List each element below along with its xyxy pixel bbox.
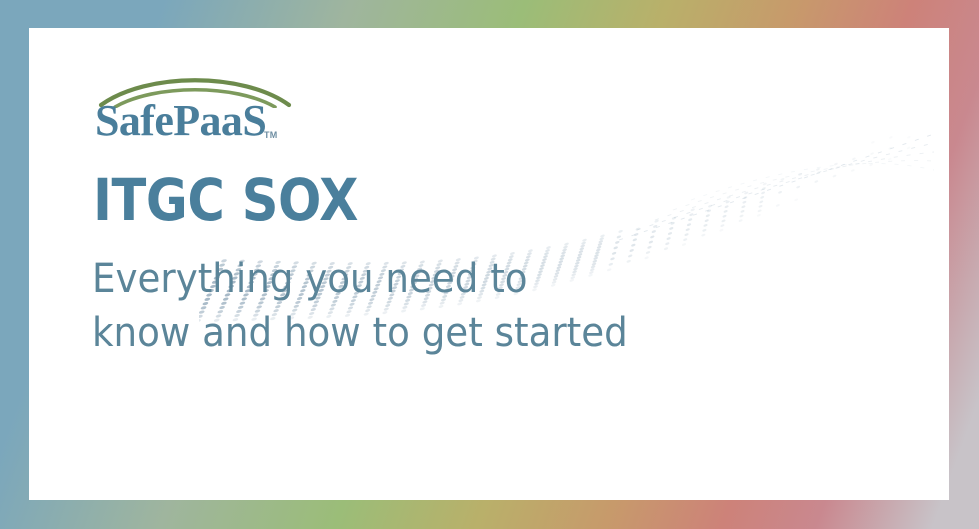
page-subtitle: Everything you need to know and how to g…	[92, 252, 628, 361]
page-title: ITGC SOX	[93, 171, 358, 229]
slide-frame: SafePaaS TM ITGC SOX Everything you need…	[0, 0, 979, 529]
brand-trademark-symbol: TM	[264, 130, 278, 140]
brand-logo: SafePaaS TM	[95, 74, 305, 148]
subtitle-line-1: Everything you need to	[92, 252, 628, 306]
subtitle-line-2: know and how to get started	[92, 306, 628, 360]
brand-wordmark: SafePaaS	[95, 99, 266, 143]
slide-canvas: SafePaaS TM ITGC SOX Everything you need…	[29, 28, 949, 500]
